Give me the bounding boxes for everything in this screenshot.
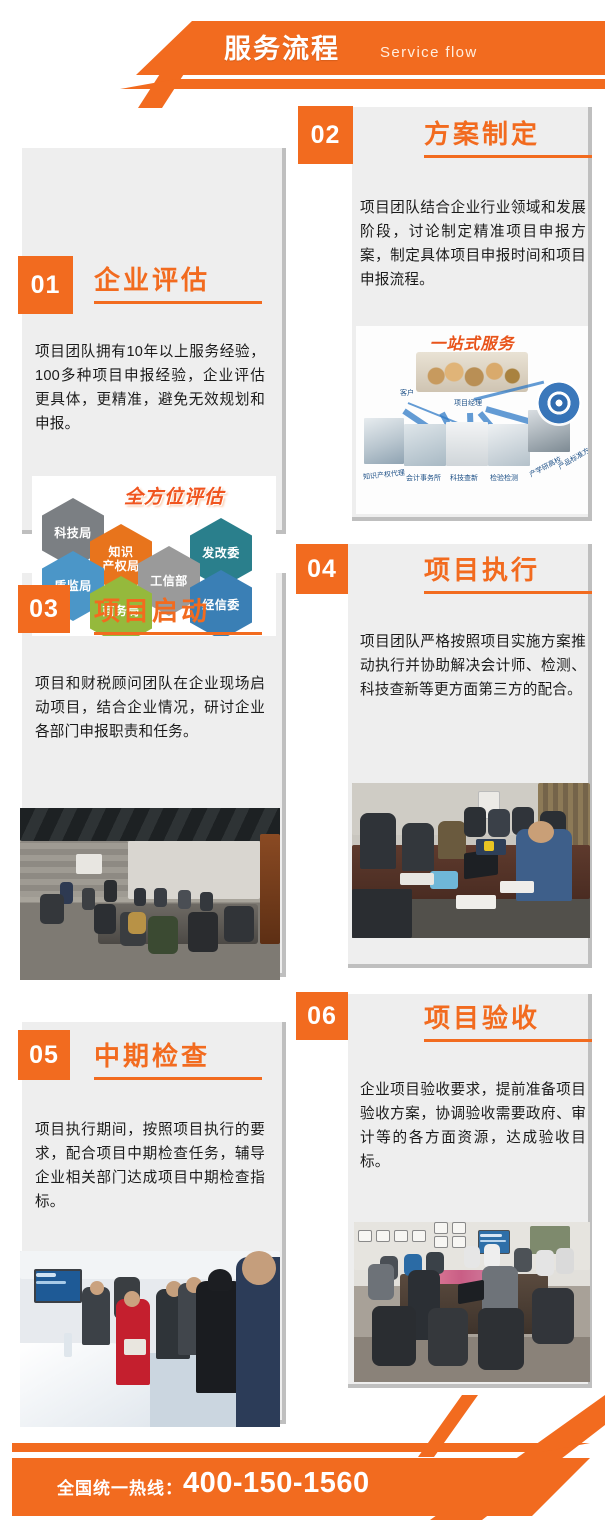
person	[134, 888, 146, 906]
title-underline	[424, 1039, 592, 1042]
person	[488, 809, 510, 837]
header-banner: 服务流程 Service flow	[0, 0, 605, 108]
hexagon-chart-title: 全方位评估	[124, 482, 224, 509]
header-underbar	[120, 79, 605, 89]
card-title: 方案制定	[424, 118, 592, 150]
framed-certificate	[358, 1230, 372, 1242]
monitor-line	[36, 1273, 56, 1277]
one-stop-service-diagram: 一站式服务 客户 项目经理 知识产权代理 会计事务所 科技查	[356, 326, 588, 514]
card-description: 项目执行期间，按照项目执行的要求，配合项目中期检查任务，辅导企业相关部门达成项目…	[35, 1118, 265, 1214]
person	[82, 1287, 110, 1345]
person-head	[124, 1291, 140, 1307]
step-card-05: 05 中期检查 项目执行期间，按照项目执行的要求，配合项目中期检查任务，辅导企业…	[8, 1010, 290, 1440]
framed-certificate	[412, 1230, 426, 1242]
title-underline	[94, 301, 262, 304]
framed-certificate	[394, 1230, 408, 1242]
card-title: 项目验收	[424, 1002, 592, 1034]
framed-certificate	[452, 1236, 466, 1248]
header-bar	[136, 21, 605, 75]
person-foreground	[148, 916, 178, 954]
one-stop-node-kehu: 客户	[400, 388, 414, 398]
one-stop-node-testing: 检验检测	[490, 473, 518, 483]
white-wall	[128, 841, 260, 899]
papers	[456, 895, 496, 909]
framed-certificate	[452, 1222, 466, 1234]
chair	[40, 894, 64, 924]
card-description: 项目和财税顾问团队在企业现场启动项目，结合企业情况，研讨企业各部门申报职责和任务…	[35, 672, 265, 744]
person-head	[528, 821, 554, 843]
step-number-badge: 06	[296, 992, 348, 1040]
hotline-label: 全国统一热线：	[57, 1474, 183, 1499]
site-visit-photo	[20, 1251, 280, 1427]
step-card-06: 06 项目验收 企业项目验收要求，提前准备项目验收方案，协调验收需要政府、审计等…	[296, 990, 596, 1408]
chair	[532, 1288, 574, 1344]
one-stop-node-pm: 项目经理	[454, 398, 482, 408]
photo-content	[20, 808, 280, 980]
one-stop-thumb-3	[446, 422, 488, 466]
person	[200, 892, 213, 911]
person-head	[242, 1251, 276, 1285]
page-subtitle: Service flow	[380, 38, 478, 68]
papers	[500, 881, 534, 893]
wood-column	[260, 834, 280, 944]
card-description: 项目团队严格按照项目实施方案推动执行并协助解决会计师、检测、科技查新等更方面第三…	[360, 630, 586, 702]
card-heading: 项目验收	[424, 1002, 592, 1042]
step-card-04: 04 项目执行 项目团队严格按照项目实施方案推动执行并协助解决会计师、检测、科技…	[296, 540, 596, 992]
step-number-badge: 04	[296, 544, 348, 594]
title-underline	[94, 632, 262, 635]
one-stop-thumb-1	[364, 418, 404, 464]
chair	[478, 1308, 524, 1370]
chair-foreground	[352, 889, 412, 938]
person	[402, 823, 434, 871]
card-title: 中期检查	[94, 1040, 262, 1072]
card-heading: 中期检查	[94, 1040, 262, 1080]
chair	[428, 1308, 468, 1366]
chair	[188, 912, 218, 952]
person	[178, 890, 191, 909]
card-title: 项目启动	[94, 595, 262, 627]
one-stop-node-account: 会计事务所	[406, 473, 441, 483]
chair	[372, 1306, 416, 1366]
counter-stand	[64, 1333, 72, 1357]
title-underline	[424, 591, 592, 594]
photo-content	[352, 783, 590, 938]
person	[536, 1250, 554, 1276]
footer-stripe	[12, 1443, 590, 1452]
chair	[94, 904, 116, 934]
step-number-badge: 01	[18, 256, 73, 314]
one-stop-thumb-4	[488, 424, 530, 466]
person	[82, 888, 95, 910]
one-stop-node-novelty: 科技查新	[450, 473, 478, 483]
person	[368, 1264, 394, 1300]
one-stop-title: 一站式服务	[429, 330, 514, 354]
person	[556, 1248, 574, 1274]
person	[464, 1246, 480, 1268]
chair	[224, 906, 254, 942]
sticky-note	[484, 841, 494, 851]
person-head	[208, 1269, 232, 1291]
person	[464, 807, 486, 837]
step-number-badge: 02	[298, 106, 353, 164]
step-card-01: 01 企业评估 项目团队拥有10年以上服务经验，100多种项目申报经验，企业评估…	[8, 108, 290, 538]
brochure	[124, 1339, 146, 1355]
framed-certificate	[376, 1230, 390, 1242]
card-title: 项目执行	[424, 554, 592, 586]
card-heading: 方案制定	[424, 118, 592, 158]
card-heading: 项目执行	[424, 554, 592, 594]
whiteboard	[76, 854, 102, 874]
person	[438, 821, 466, 859]
service-flow-infographic: 服务流程 Service flow 01 企业评估 项目团队拥有10年以上服务经…	[0, 0, 605, 1538]
papers	[400, 873, 434, 885]
one-stop-thumb-2	[404, 424, 446, 466]
step-card-02: 02 方案制定 项目团队结合企业行业领域和发展阶段，讨论制定精准项目申报方案，制…	[296, 100, 596, 540]
card-description: 企业项目验收要求，提前准备项目验收方案，协调验收需要政府、审计等的各方面资源，达…	[360, 1078, 586, 1174]
title-underline	[424, 155, 592, 158]
screen-line	[480, 1240, 506, 1242]
screen-line	[480, 1234, 502, 1237]
person-foreground	[128, 912, 146, 934]
monitor-line	[36, 1281, 66, 1284]
card-description: 项目团队拥有10年以上服务经验，100多种项目申报经验，企业评估更具体，更精准，…	[35, 340, 265, 436]
card-heading: 项目启动	[94, 595, 262, 635]
workshop-photo	[352, 783, 590, 938]
iso-certification-badge	[536, 380, 582, 426]
step-card-03: 03 项目启动 项目和财税顾问团队在企业现场启动项目，结合企业情况，研讨企业各部…	[8, 545, 290, 991]
framed-certificate	[434, 1222, 448, 1234]
person	[484, 1244, 500, 1268]
one-stop-node-ip: 知识产权代理	[363, 468, 406, 482]
photo-content	[20, 1251, 280, 1427]
acceptance-meeting-photo	[354, 1222, 590, 1382]
card-heading: 企业评估	[94, 264, 262, 304]
step-number-badge: 03	[18, 585, 70, 633]
meeting-room-photo	[20, 808, 280, 980]
ceiling-panel	[20, 808, 280, 841]
one-stop-center-photo	[416, 352, 528, 392]
page-title: 服务流程	[224, 27, 340, 71]
one-stop-canvas: 一站式服务 客户 项目经理 知识产权代理 会计事务所 科技查	[356, 326, 588, 514]
framed-certificate	[434, 1236, 448, 1248]
person	[514, 1248, 532, 1272]
person	[104, 880, 117, 902]
card-title: 企业评估	[94, 264, 262, 296]
step-number-badge: 05	[18, 1030, 70, 1080]
card-description: 项目团队结合企业行业领域和发展阶段，讨论制定精准项目申报方案，制定具体项目申报时…	[360, 196, 586, 292]
title-underline	[94, 1077, 262, 1080]
person	[154, 888, 167, 907]
hotline-number[interactable]: 400-150-1560	[183, 1467, 370, 1500]
equipment	[430, 871, 458, 889]
photo-content	[354, 1222, 590, 1382]
person-head	[90, 1281, 104, 1295]
person	[360, 813, 396, 869]
